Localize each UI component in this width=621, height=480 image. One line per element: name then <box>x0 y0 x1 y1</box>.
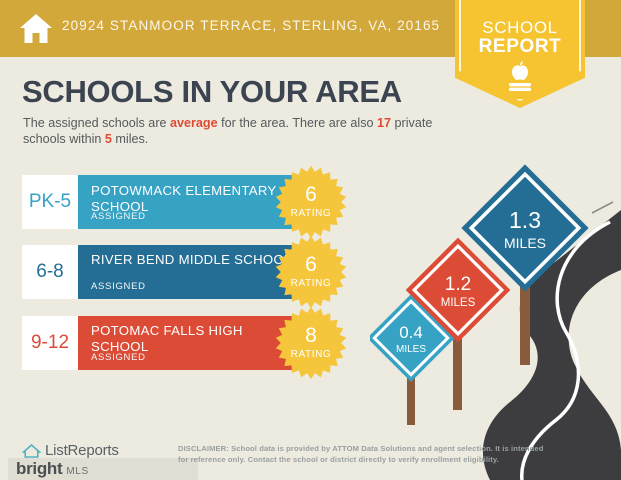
bright-mls-watermark: bright MLS <box>8 458 198 480</box>
grade-badge: 9-12 <box>22 316 78 370</box>
school-status: ASSIGNED <box>91 211 146 222</box>
rating-value: 6 <box>274 253 348 277</box>
grade-range: 6-8 <box>36 261 63 283</box>
rating-label: RATING <box>274 278 348 289</box>
school-name: RIVER BEND MIDDLE SCHOOL <box>91 252 296 268</box>
rating-label: RATING <box>274 208 348 219</box>
sign-unit: MILES <box>396 344 426 355</box>
page-subtitle: The assigned schools are average for the… <box>23 115 453 147</box>
school-report-badge: SCHOOL REPORT <box>455 0 585 108</box>
sign-distance: 1.2 <box>445 274 471 295</box>
badge-line-1: SCHOOL <box>455 18 585 38</box>
rating-starburst: 8 RATING <box>274 306 348 380</box>
subtitle-highlight-count: 17 <box>377 116 391 130</box>
subtitle-part-4: miles. <box>112 132 148 146</box>
subtitle-highlight-average: average <box>170 116 218 130</box>
rating-starburst: 6 RATING <box>274 235 348 309</box>
badge-line-2: REPORT <box>455 36 585 58</box>
subtitle-part-2: for the area. There are also <box>218 116 377 130</box>
sign-distance: 0.4 <box>399 323 423 342</box>
listreports-logo[interactable]: ListReports <box>22 442 119 459</box>
sign-unit: MILES <box>504 235 546 251</box>
subtitle-highlight-miles: 5 <box>105 132 112 146</box>
grade-badge: 6-8 <box>22 245 78 299</box>
school-name: POTOWMACK ELEMENTARY SCHOOL <box>91 183 296 214</box>
school-bar: POTOWMACK ELEMENTARY SCHOOL ASSIGNED <box>78 175 303 229</box>
sign-unit: MILES <box>441 297 476 309</box>
grade-badge: PK-5 <box>22 175 78 229</box>
logo-text-reports: Reports <box>68 442 119 459</box>
grade-range: PK-5 <box>29 191 71 213</box>
subtitle-part-1: The assigned schools are <box>23 116 170 130</box>
road-illustration: 0.4 MILES 1.2 MILES 1.3 MILES <box>370 150 621 480</box>
school-bar: RIVER BEND MIDDLE SCHOOL ASSIGNED <box>78 245 303 299</box>
rating-value: 8 <box>274 324 348 348</box>
watermark-suffix: MLS <box>62 462 88 477</box>
rating-label: RATING <box>274 349 348 360</box>
school-name: POTOMAC FALLS HIGH SCHOOL <box>91 323 296 354</box>
school-status: ASSIGNED <box>91 352 146 363</box>
property-address: 20924 STANMOOR TERRACE, STERLING, VA, 20… <box>62 18 440 33</box>
watermark-brand: bright <box>8 459 62 479</box>
disclaimer-text: DISCLAIMER: School data is provided by A… <box>178 444 548 465</box>
rating-starburst: 6 RATING <box>274 165 348 239</box>
rating-value: 6 <box>274 183 348 207</box>
sign-distance: 1.3 <box>509 207 541 233</box>
house-logo-icon <box>22 443 41 459</box>
school-status: ASSIGNED <box>91 281 146 292</box>
sign-antenna-line <box>592 202 613 213</box>
grade-range: 9-12 <box>31 332 69 354</box>
home-icon <box>18 12 54 46</box>
school-bar: POTOMAC FALLS HIGH SCHOOL ASSIGNED <box>78 316 303 370</box>
logo-text-list: List <box>45 442 68 459</box>
apple-on-book-icon <box>505 60 535 92</box>
logo-text: ListReports <box>45 442 119 459</box>
page-title: SCHOOLS IN YOUR AREA <box>22 74 402 110</box>
school-report-infographic: 20924 STANMOOR TERRACE, STERLING, VA, 20… <box>0 0 621 480</box>
